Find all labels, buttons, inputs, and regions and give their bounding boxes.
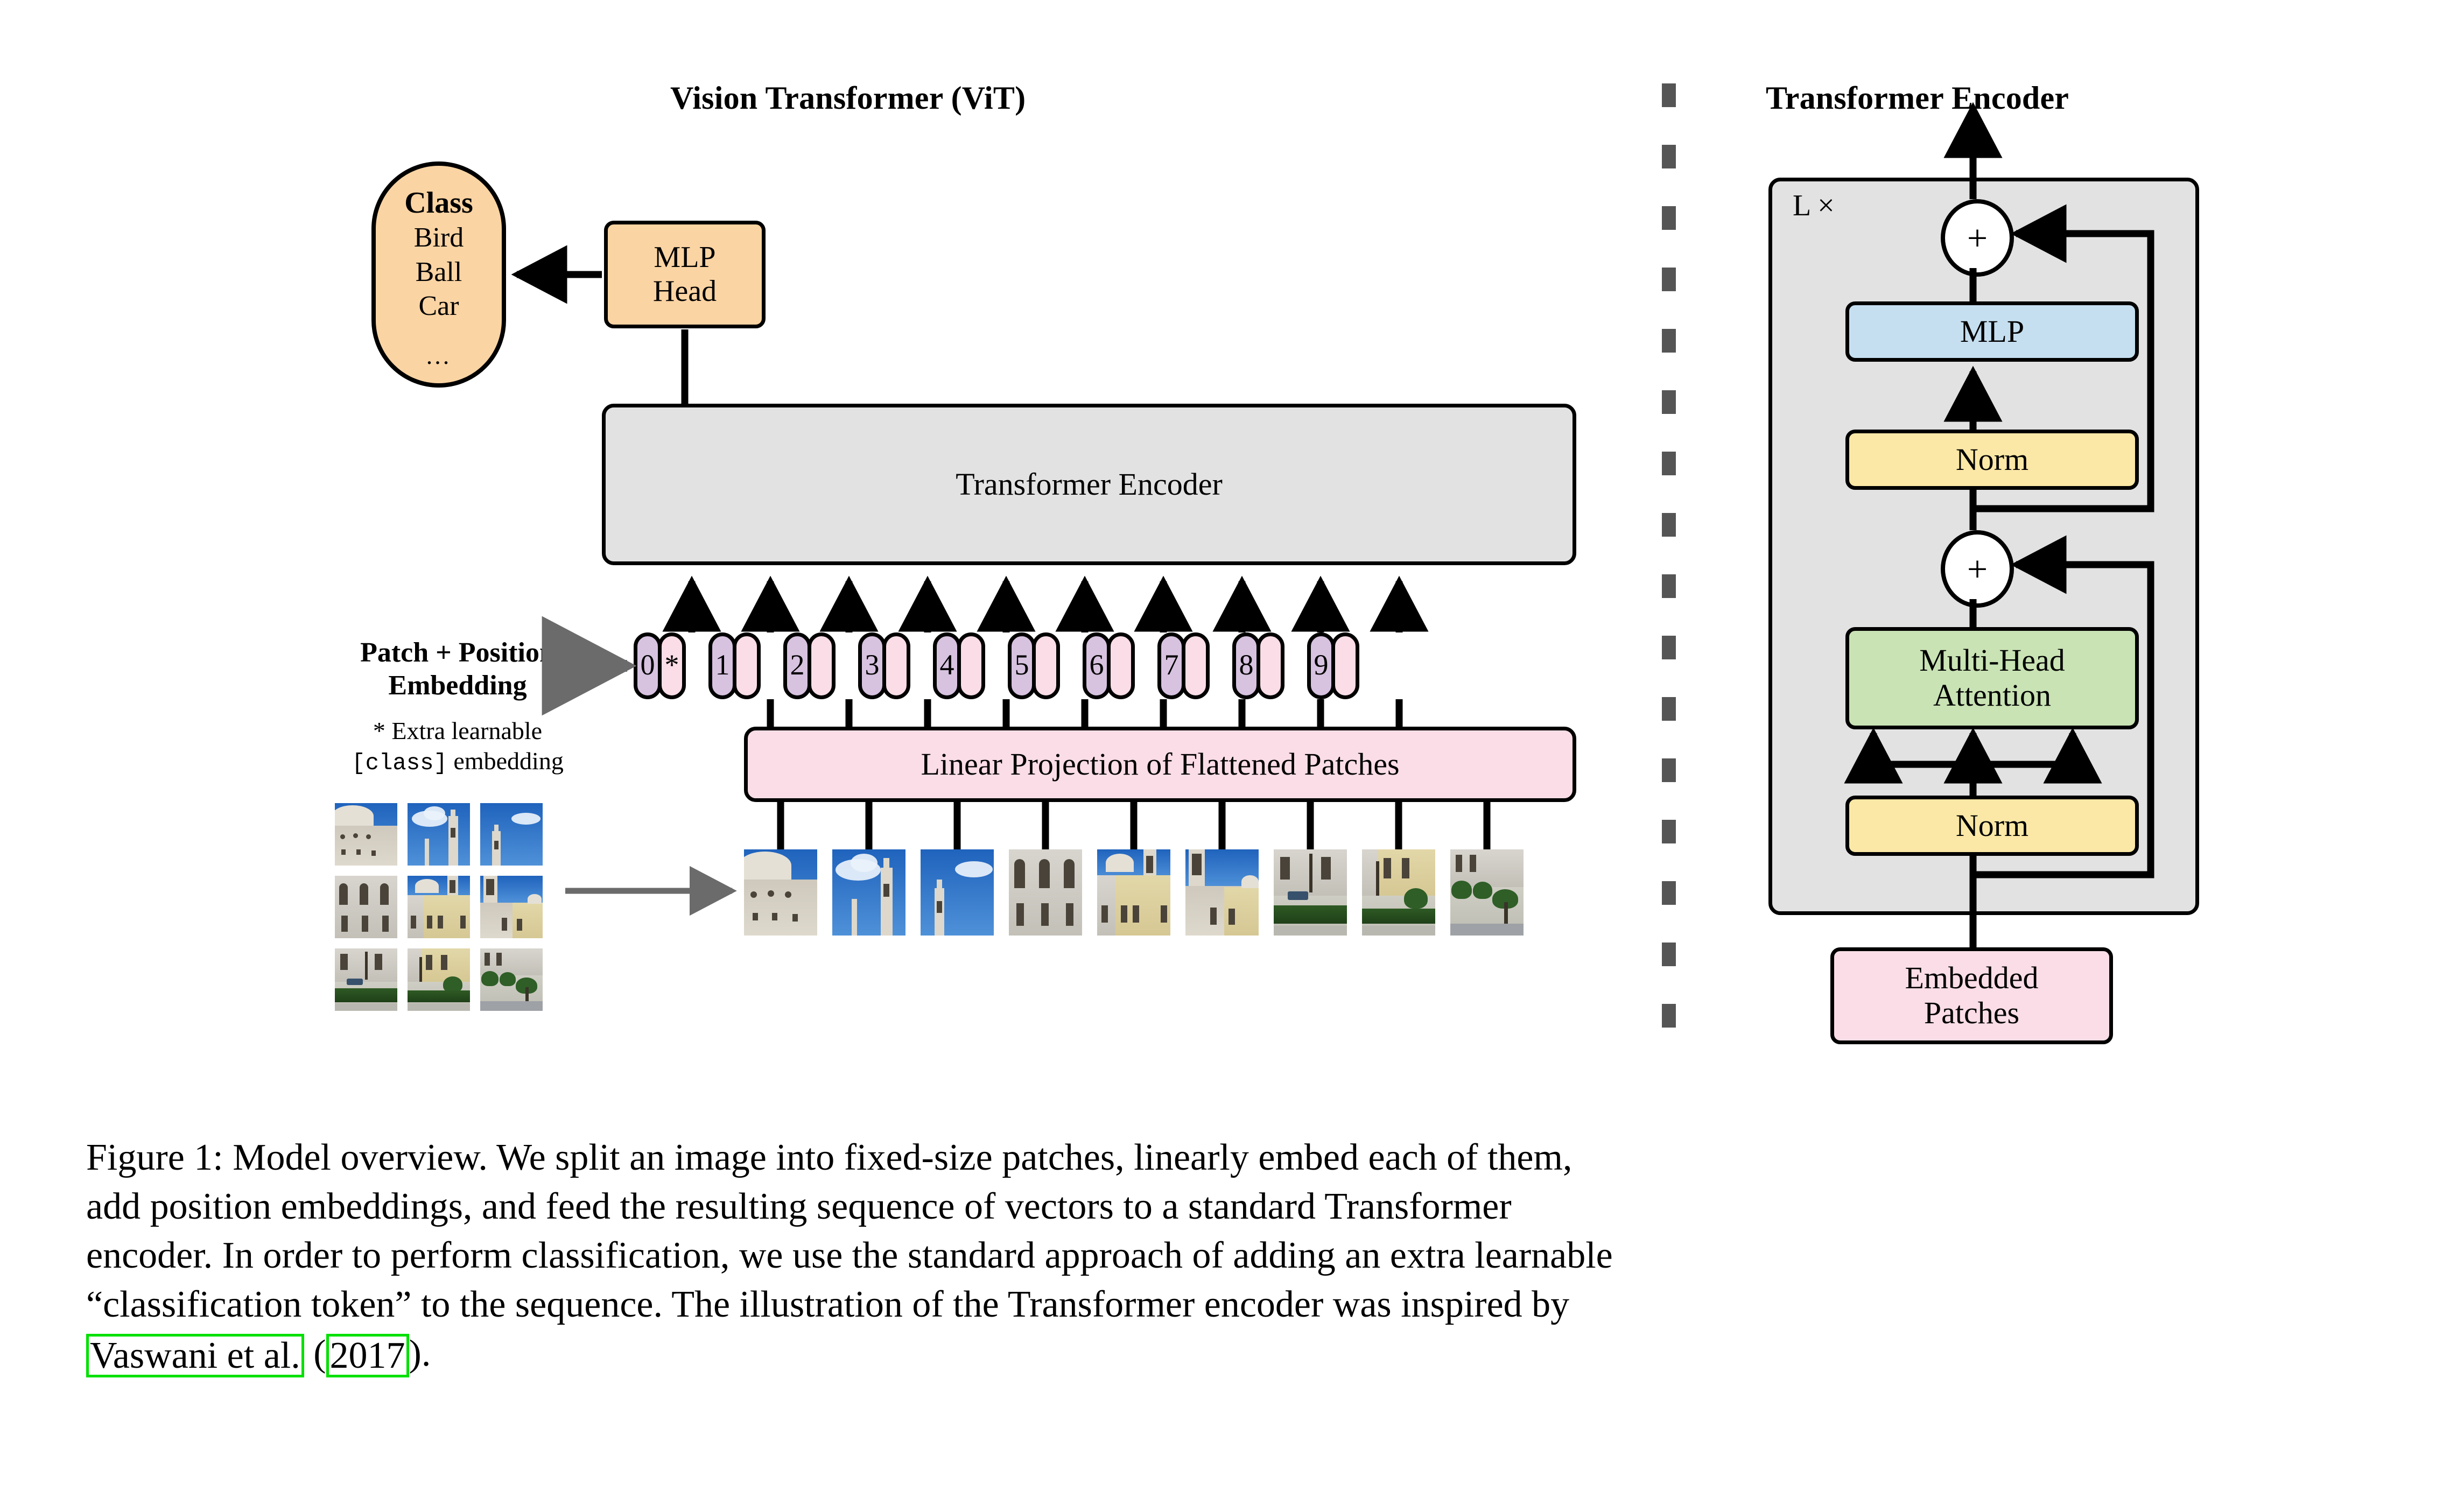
- patch-position-label-line-2: Embedding: [307, 669, 608, 702]
- token-5-position-label: 5: [1015, 650, 1029, 679]
- embedded-patches-box: Embedded Patches: [1830, 947, 2113, 1044]
- patch-position-label-line-1: Patch + Position: [307, 636, 608, 669]
- class-label-item-1: Ball: [416, 255, 462, 289]
- multi-head-attention-box: Multi-Head Attention: [1845, 627, 2139, 729]
- caption-line-5: Vaswani et al. (2017).: [86, 1329, 2379, 1378]
- extra-learnable-note-line-2: [class] embedding: [312, 746, 603, 778]
- residual-add-bottom: +: [1941, 530, 2014, 608]
- extra-learnable-note-line-1: * Extra learnable: [312, 716, 603, 746]
- token-1-position-label: 1: [715, 650, 730, 679]
- token-0-patch-capsule: *: [658, 632, 686, 699]
- token-1-patch-capsule: [733, 632, 761, 699]
- mlp-head-line-1: MLP: [653, 241, 717, 275]
- caption-line-2: add position embeddings, and feed the re…: [86, 1182, 2379, 1231]
- token-8: 8: [1232, 632, 1284, 699]
- source-patch-1-1: [408, 876, 470, 938]
- token-7-position-label: 7: [1164, 650, 1179, 679]
- encoder-mlp-label: MLP: [1960, 314, 2024, 349]
- token-0-patch-label: *: [665, 650, 679, 679]
- encoder-repeat-label: L ×: [1793, 188, 1835, 223]
- patch-position-token-row: 0 * 1 2 3 4 5 6 7 8 9: [634, 632, 1359, 699]
- token-to-encoder-arrows: [692, 581, 1399, 632]
- token-2-patch-capsule: [808, 632, 836, 699]
- residual-add-top-symbol: +: [1967, 220, 1988, 256]
- class-token-code: [class]: [352, 750, 447, 776]
- token-3: 3: [858, 632, 910, 699]
- sequence-patch-2: [921, 849, 994, 936]
- transformer-encoder-bar: Transformer Encoder: [602, 404, 1576, 565]
- source-patch-2-2: [480, 948, 543, 1011]
- source-image-grid: [335, 803, 543, 1011]
- sequence-patch-6: [1274, 849, 1347, 936]
- token-4-position-label: 4: [940, 650, 954, 679]
- token-4-patch-capsule: [957, 632, 985, 699]
- linear-projection-label: Linear Projection of Flattened Patches: [921, 747, 1399, 782]
- encoder-norm-top-box: Norm: [1845, 430, 2139, 490]
- residual-add-bottom-symbol: +: [1967, 551, 1988, 587]
- encoder-mlp-box: MLP: [1845, 301, 2139, 362]
- token-6-position-label: 6: [1090, 650, 1104, 679]
- encoder-norm-bottom-box: Norm: [1845, 796, 2139, 856]
- token-7: 7: [1157, 632, 1210, 699]
- patch-to-projection-lines: [781, 802, 1487, 849]
- source-patch-1-2: [480, 876, 543, 938]
- extra-learnable-note: * Extra learnable [class] embedding: [312, 716, 603, 778]
- embedded-patches-line-1: Embedded: [1905, 961, 2038, 996]
- multi-head-attention-label-line-2: Attention: [1919, 678, 2065, 713]
- class-output-capsule: Class Bird Ball Car ...: [371, 161, 506, 388]
- projection-to-token-lines: [770, 699, 1399, 727]
- caption-open-paren: (: [304, 1333, 326, 1374]
- citation-link-vaswani[interactable]: Vaswani et al.: [86, 1334, 304, 1377]
- source-patch-2-0: [335, 948, 397, 1011]
- caption-line-4: “classification token” to the sequence. …: [86, 1280, 2379, 1329]
- token-6-patch-capsule: [1107, 632, 1135, 699]
- token-0-position-label: 0: [641, 650, 655, 679]
- source-patch-0-2: [480, 803, 543, 866]
- encoder-norm-top-label: Norm: [1956, 442, 2028, 477]
- token-6: 6: [1083, 632, 1135, 699]
- sequence-patch-5: [1185, 849, 1259, 936]
- token-1: 1: [708, 632, 761, 699]
- multi-head-attention-label-line-1: Multi-Head: [1919, 643, 2065, 678]
- token-5: 5: [1008, 632, 1060, 699]
- mlp-head-box: MLP Head: [604, 221, 766, 328]
- token-0: 0 *: [634, 632, 686, 699]
- sequence-patch-3: [1009, 849, 1082, 936]
- sequence-patch-0: [744, 849, 817, 936]
- source-patch-0-0: [335, 803, 397, 866]
- token-2: 2: [783, 632, 836, 699]
- citation-link-year[interactable]: 2017: [326, 1334, 409, 1377]
- token-9-position-label: 9: [1314, 650, 1329, 679]
- mlp-head-line-2: Head: [653, 275, 717, 308]
- figure-caption: Figure 1: Model overview. We split an im…: [86, 1133, 2379, 1378]
- encoder-norm-bottom-label: Norm: [1956, 808, 2028, 843]
- token-7-patch-capsule: [1182, 632, 1210, 699]
- source-patch-1-0: [335, 876, 397, 938]
- token-8-position-label: 8: [1239, 650, 1254, 679]
- sequence-patch-4: [1097, 849, 1170, 936]
- patch-position-embedding-label: Patch + Position Embedding: [307, 636, 608, 702]
- token-2-position-label: 2: [790, 650, 805, 679]
- vit-panel-title: Vision Transformer (ViT): [670, 80, 1026, 117]
- caption-line-3: encoder. In order to perform classificat…: [86, 1231, 2379, 1280]
- extra-learnable-note-suffix: embedding: [447, 747, 564, 775]
- token-9: 9: [1307, 632, 1359, 699]
- caption-line-1: Figure 1: Model overview. We split an im…: [86, 1133, 2379, 1182]
- encoder-panel-title: Transformer Encoder: [1766, 80, 2069, 117]
- class-label-head: Class: [404, 185, 473, 221]
- linear-projection-bar: Linear Projection of Flattened Patches: [744, 727, 1576, 802]
- embedded-patches-line-2: Patches: [1905, 996, 2038, 1031]
- token-9-patch-capsule: [1331, 632, 1359, 699]
- caption-close-paren: ).: [409, 1333, 431, 1374]
- token-3-position-label: 3: [865, 650, 880, 679]
- class-label-item-2: Car: [418, 289, 459, 323]
- sequence-patch-7: [1362, 849, 1435, 936]
- source-patch-0-1: [408, 803, 470, 866]
- residual-add-top: +: [1941, 199, 2014, 277]
- token-5-patch-capsule: [1032, 632, 1060, 699]
- class-label-item-0: Bird: [414, 221, 464, 255]
- source-patch-2-1: [408, 948, 470, 1011]
- token-3-patch-capsule: [882, 632, 910, 699]
- sequence-patch-8: [1450, 849, 1524, 936]
- sequence-patch-1: [832, 849, 905, 936]
- class-label-ellipsis: ...: [426, 341, 452, 370]
- transformer-encoder-bar-label: Transformer Encoder: [956, 467, 1223, 502]
- token-4: 4: [933, 632, 985, 699]
- token-8-patch-capsule: [1256, 632, 1284, 699]
